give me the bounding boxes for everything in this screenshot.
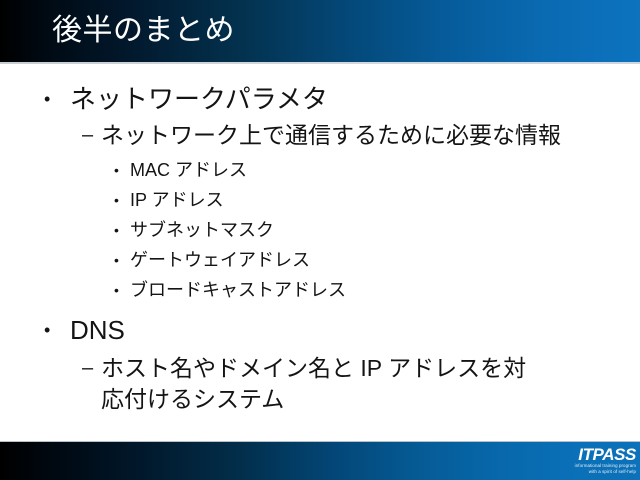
slide: 後半のまとめ • ネットワークパラメタ – ネットワーク上で通信するために必要な… [0,0,640,480]
bullet-text: ブロードキャストアドレス [130,277,346,303]
bullet-text: ネットワーク上で通信するために必要な情報 [101,120,561,151]
page-title: 後半のまとめ [52,11,235,51]
bullet-item-ip-address: • IP アドレス [114,187,224,213]
bullet-item-mac-address: • MAC アドレス [114,157,247,183]
bullet-marker-dot: • [114,247,130,273]
bullet-item-broadcast-address: • ブロードキャストアドレス [114,277,346,303]
bullet-item-gateway-address: • ゲートウェイアドレス [114,247,310,273]
itpass-logo-wordmark: ITPASS [554,446,636,463]
bullet-item-dns: • DNS [44,313,125,347]
bullet-marker-dot: • [44,82,70,116]
bullet-marker-dash: – [82,120,101,151]
itpass-logo: ITPASS informational training program wi… [554,446,636,474]
bullet-text: IP アドレス [130,187,224,213]
footer-bar [0,442,640,480]
slide-body: • ネットワークパラメタ – ネットワーク上で通信するために必要な情報 • MA… [0,66,640,442]
bullet-marker-dot: • [114,277,130,303]
bullet-marker-dot: • [44,313,70,347]
title-bar-underline [0,62,640,64]
bullet-text: MAC アドレス [130,157,247,183]
bullet-text: サブネットマスク [130,217,274,243]
bullet-marker-dash: – [82,353,101,384]
bullet-item-required-info: – ネットワーク上で通信するために必要な情報 [82,120,561,151]
bullet-text: ホスト名やドメイン名と IP アドレスを対応付けるシステム [101,353,541,415]
bullet-text: DNS [70,313,125,347]
bullet-marker-dot: • [114,217,130,243]
itpass-logo-tagline-line2: with a spirit of self-help [554,469,636,475]
bullet-text: ゲートウェイアドレス [130,247,310,273]
bullet-item-subnet-mask: • サブネットマスク [114,217,274,243]
bullet-item-dns-description: – ホスト名やドメイン名と IP アドレスを対応付けるシステム [82,353,552,415]
bullet-item-network-parameters: • ネットワークパラメタ [44,82,328,116]
bullet-marker-dot: • [114,157,130,183]
bullet-marker-dot: • [114,187,130,213]
bullet-text: ネットワークパラメタ [70,82,328,116]
